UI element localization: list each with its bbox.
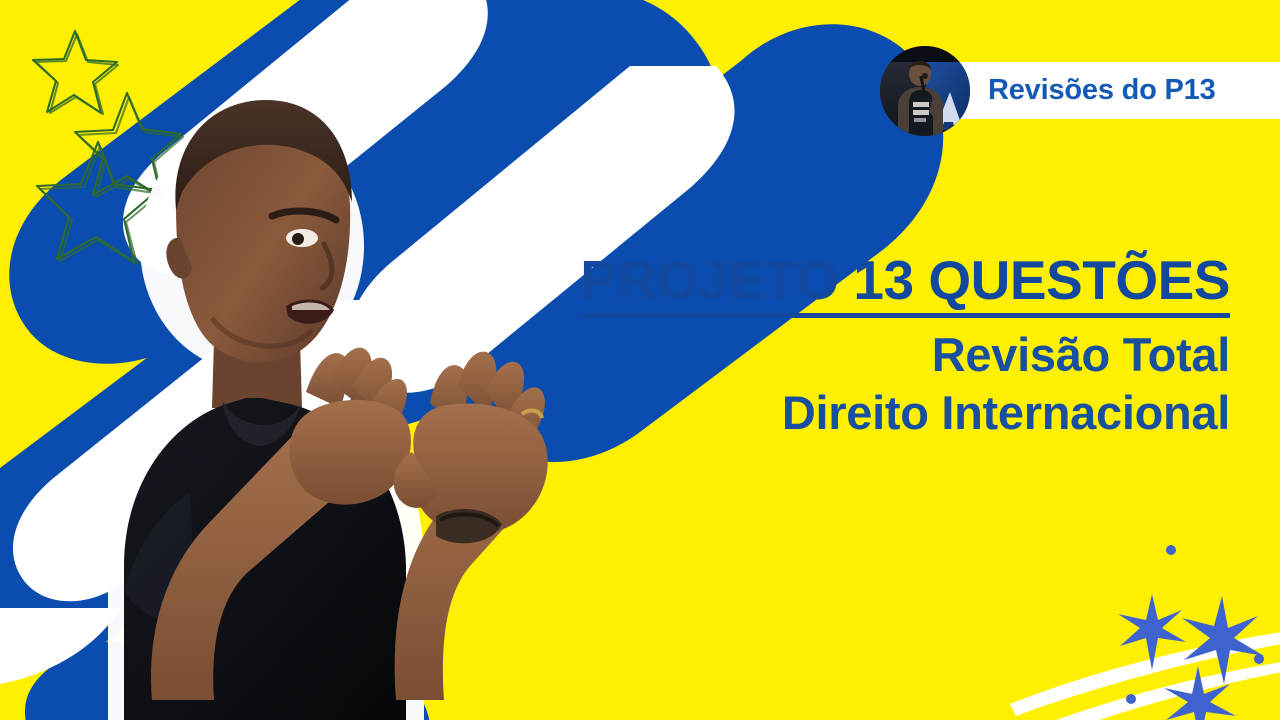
avatar-photo: [880, 46, 970, 136]
avatar: [880, 46, 970, 136]
page-title: PROJETO 13 QUESTÕES: [580, 252, 1230, 318]
subtitle-line-2: Direito Internacional: [440, 386, 1230, 440]
thumbnail-canvas: Revisões do P13 PROJETO 13 QUESTÕES Revi…: [0, 0, 1280, 720]
channel-badge: Revisões do P13: [880, 62, 1280, 119]
subtitle-line-1: Revisão Total: [440, 328, 1230, 382]
badge-label: Revisões do P13: [988, 62, 1216, 119]
headline-block: PROJETO 13 QUESTÕES Revisão Total Direit…: [440, 252, 1230, 440]
